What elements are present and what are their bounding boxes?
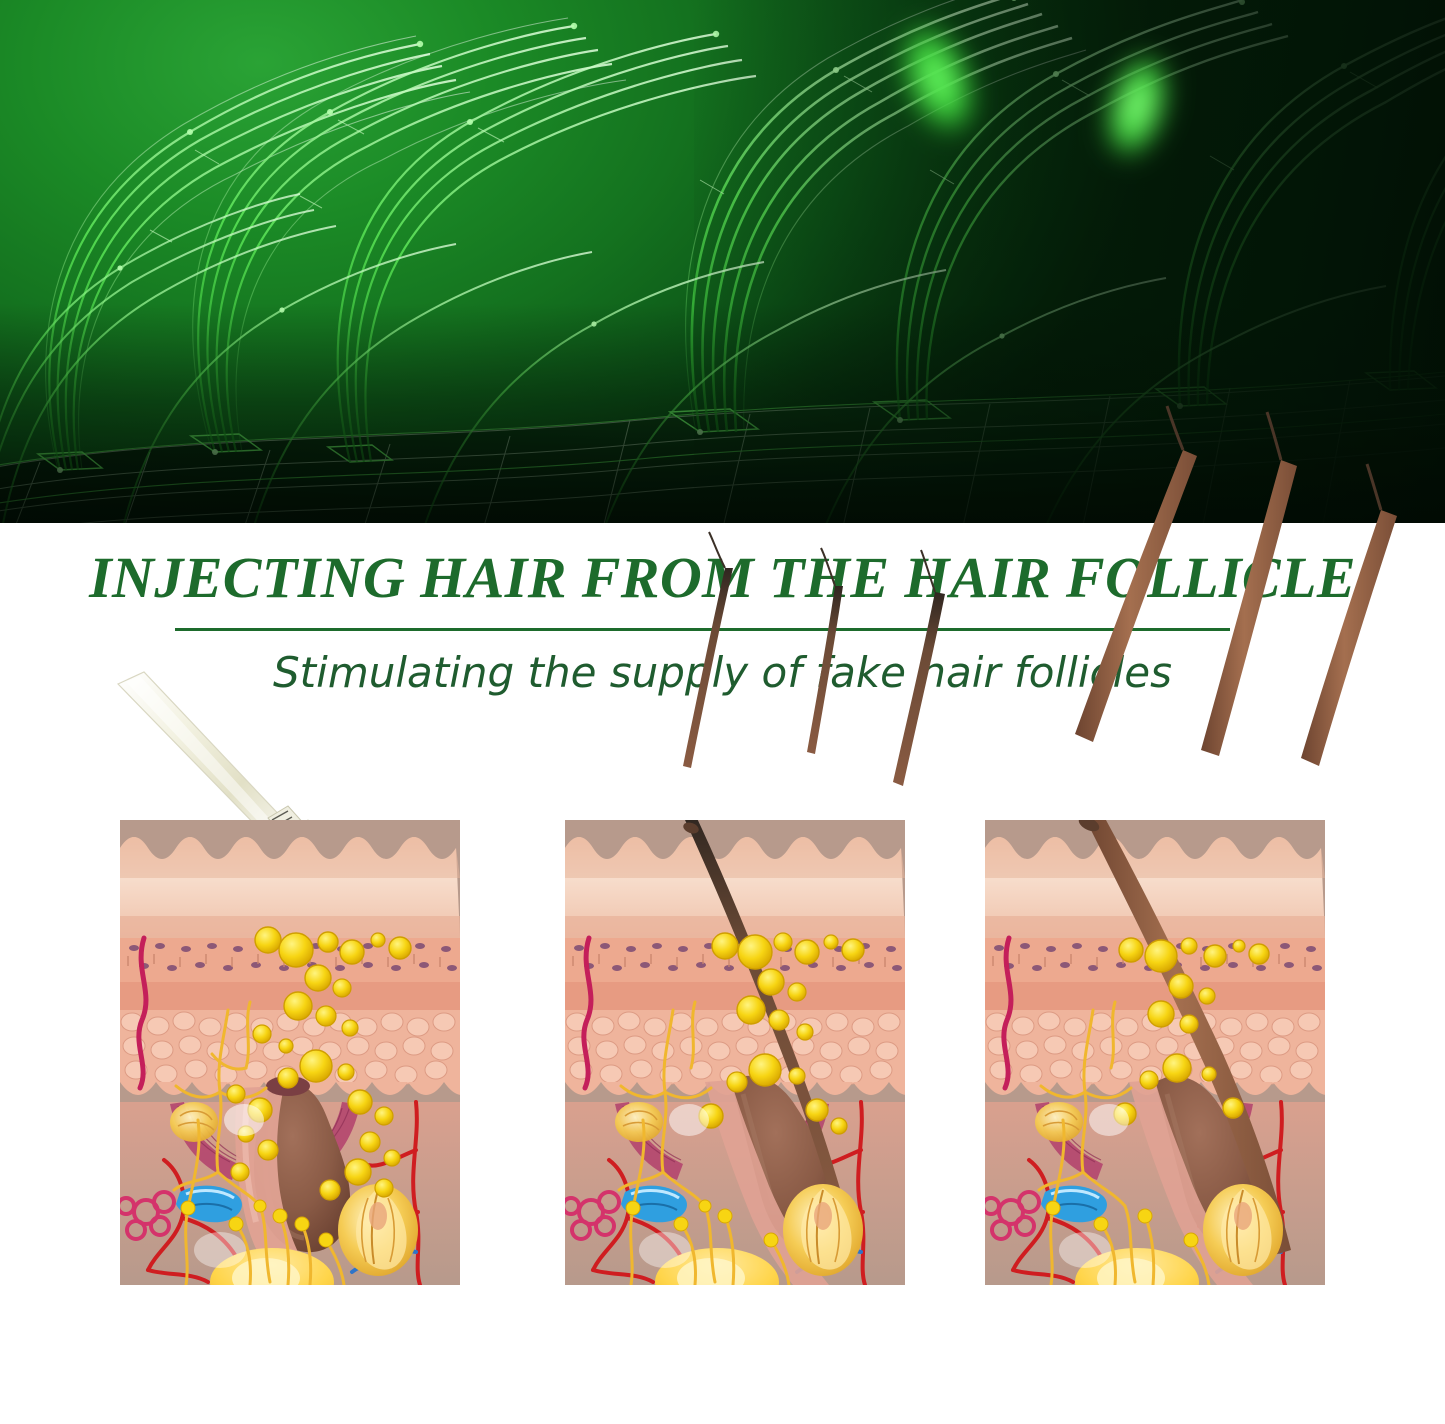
panel-1-illustration — [120, 620, 460, 1285]
skin-cross-section-3 — [985, 820, 1325, 1285]
infographic-page: INJECTING HAIR FROM THE HAIR FOLLICLE St… — [0, 0, 1445, 1424]
thick-hair-strands-group — [925, 490, 1395, 840]
skin-cross-section-2 — [565, 820, 905, 1285]
skin-cross-section-1 — [120, 820, 460, 1285]
thin-hair-strands-group — [505, 490, 975, 840]
panel-3: Keep using, new hair gradually thicker a… — [985, 620, 1385, 1424]
panel-2-illustration — [565, 620, 905, 1285]
panel-2: Awaken the dormant hair follicles, impro… — [565, 620, 965, 1424]
panel-1: The essence of plant vitality penetrates… — [120, 620, 520, 1424]
panel-3-illustration — [985, 620, 1325, 1285]
panels-row: The essence of plant vitality penetrates… — [0, 0, 1445, 1424]
